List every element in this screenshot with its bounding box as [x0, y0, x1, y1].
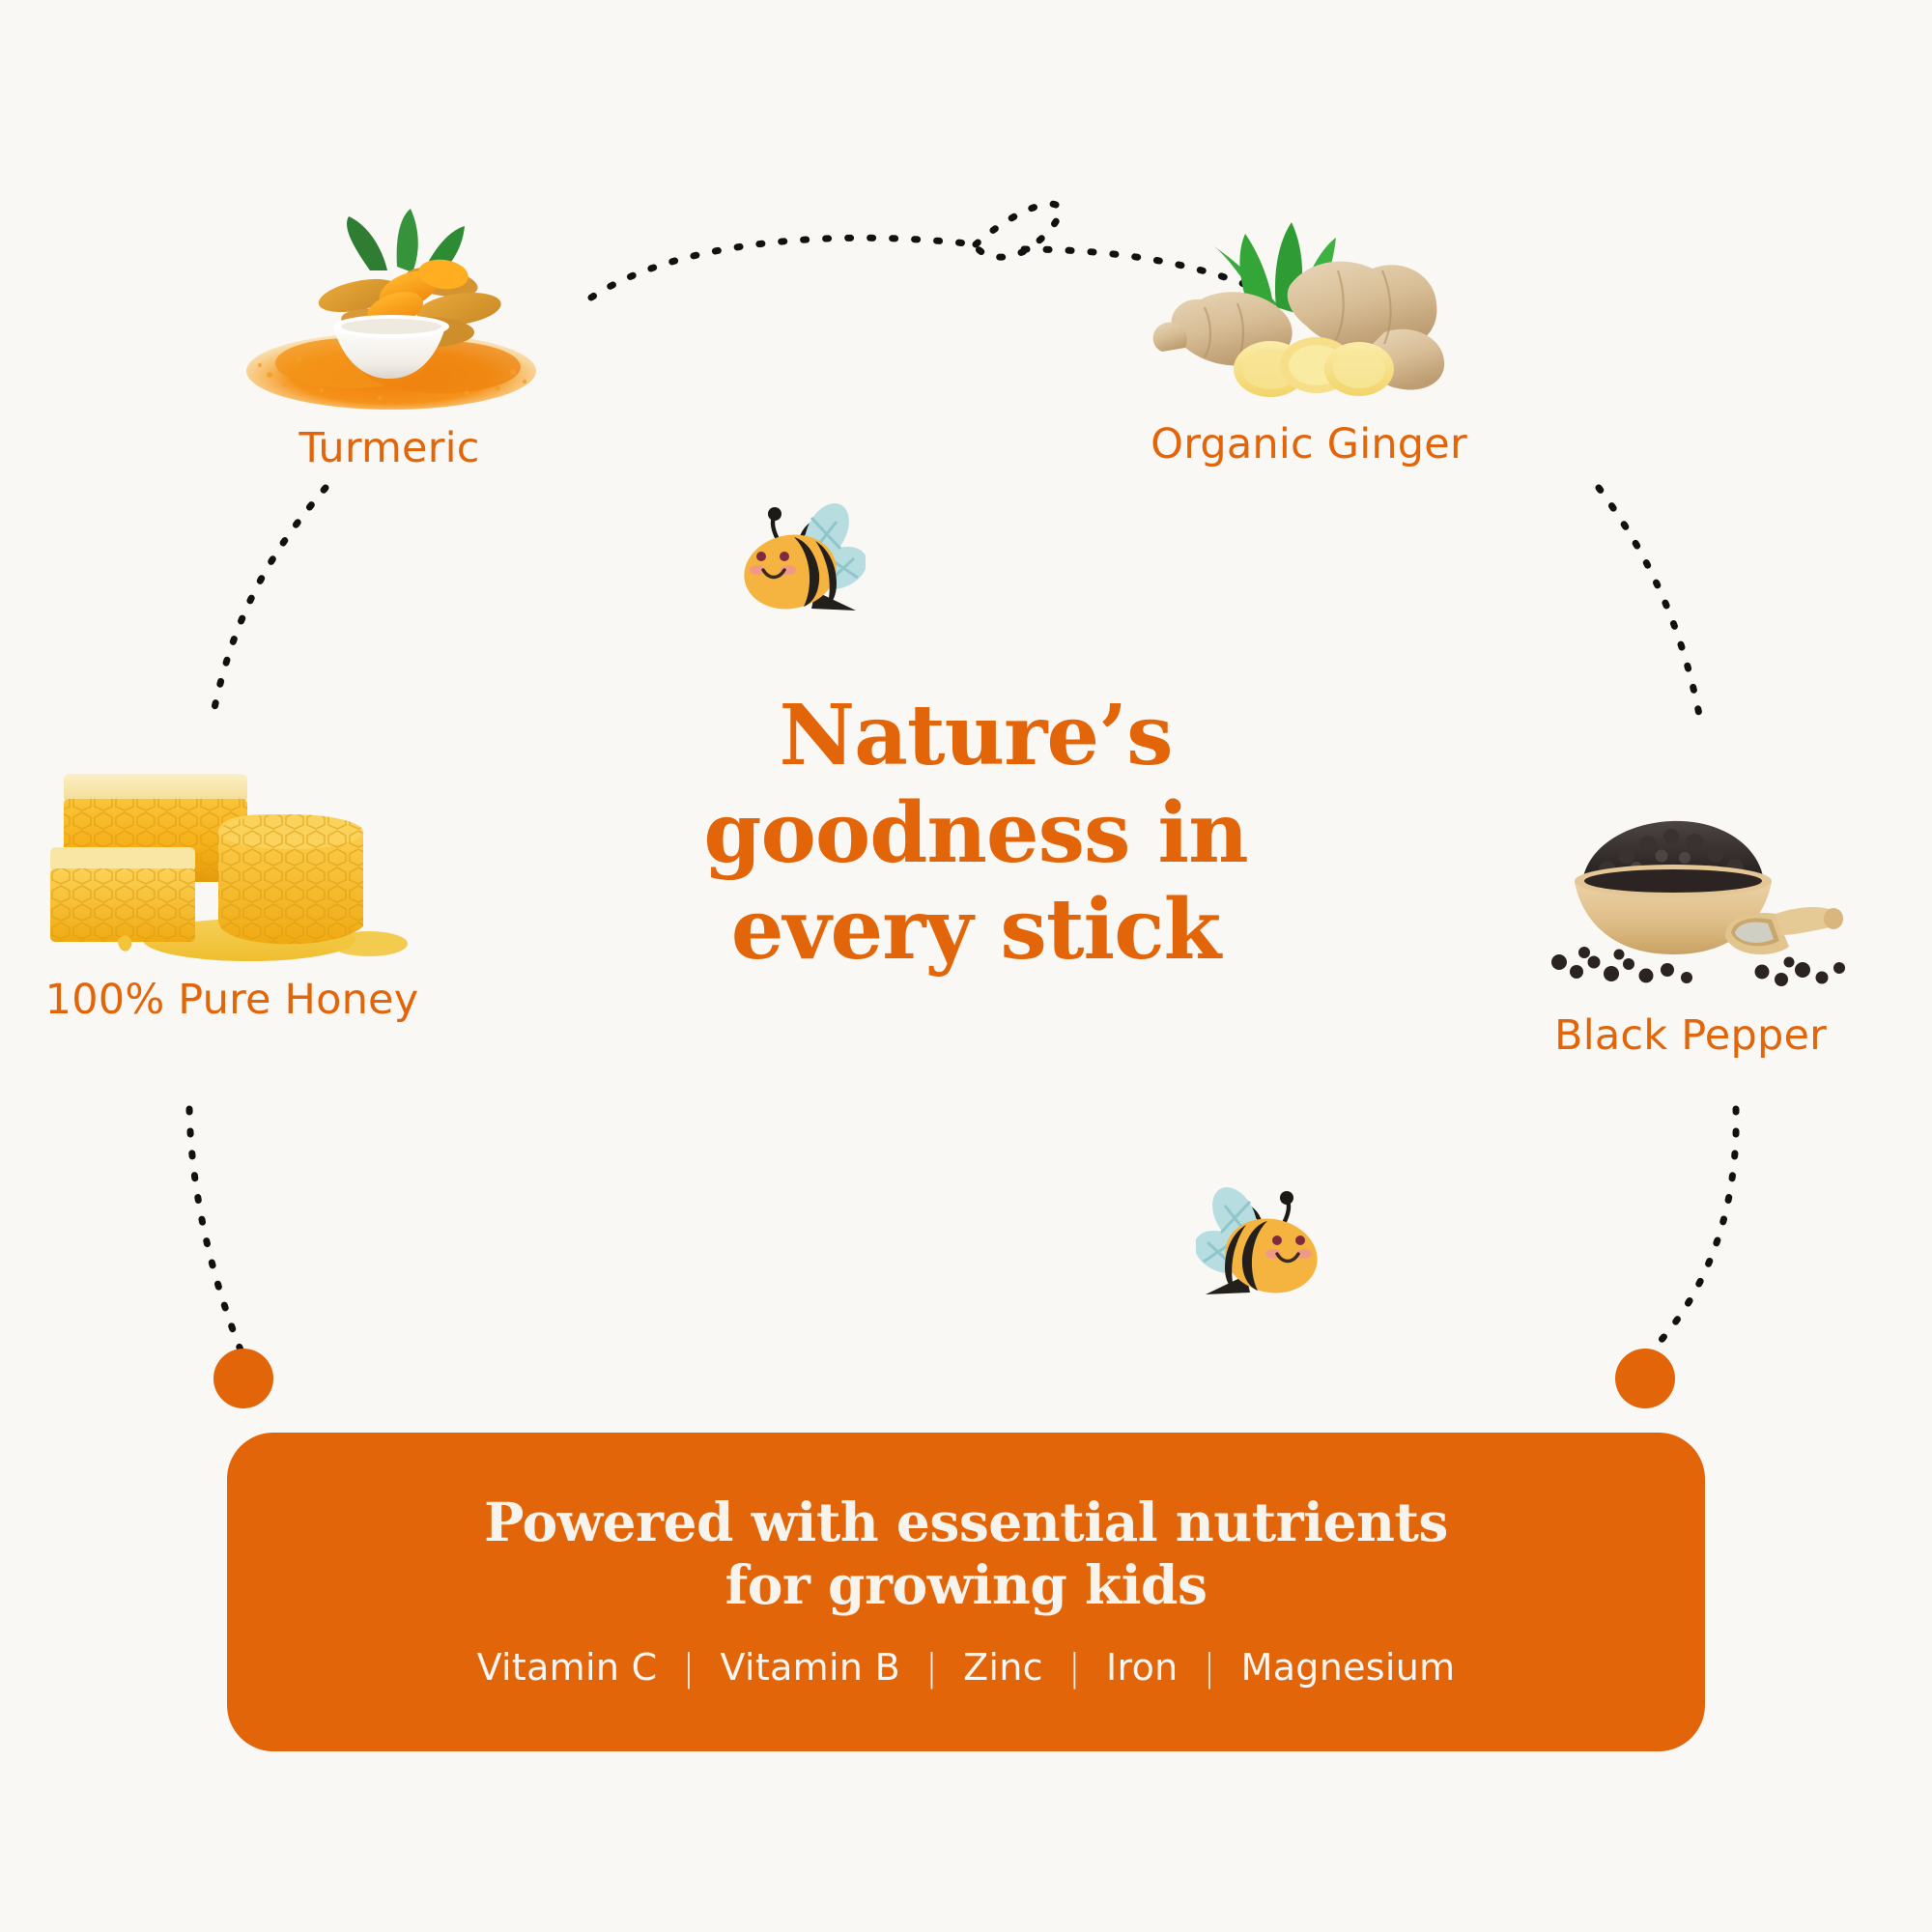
turmeric-bowl-image [235, 182, 544, 418]
banner-title-line-2: for growing kids [484, 1554, 1448, 1617]
nutrients-banner: Powered with essential nutrients for gro… [227, 1433, 1705, 1751]
nutrient-separator-3: | [1043, 1646, 1106, 1689]
ingredient-label-ginger: Organic Ginger [1151, 420, 1467, 469]
ingredient-honey: 100% Pure Honey [29, 720, 435, 1024]
path-end-dot-left [213, 1349, 273, 1408]
bee-icon-top [723, 502, 866, 631]
ginger-root-image [1145, 162, 1473, 409]
bee-icon-bottom [1196, 1186, 1339, 1315]
ingredient-pepper: Black Pepper [1526, 773, 1855, 1060]
black-pepper-bowl-image [1526, 773, 1855, 1000]
ingredient-label-pepper: Black Pepper [1554, 1011, 1827, 1060]
infographic-canvas: Turmeric [0, 0, 1932, 1932]
nutrient-separator-1: | [657, 1646, 720, 1689]
banner-title-line-1: Powered with essential nutrients [484, 1492, 1448, 1554]
nutrient-list: Vitamin C | Vitamin B | Zinc | Iron | Ma… [477, 1646, 1456, 1689]
nutrient-item-magnesium: Magnesium [1241, 1646, 1456, 1689]
page-headline: Nature’s goodness in every stick [667, 688, 1285, 980]
headline-line-3: every stick [667, 882, 1285, 980]
nutrient-item-vitamin-c: Vitamin C [477, 1646, 658, 1689]
nutrient-item-zinc: Zinc [963, 1646, 1043, 1689]
headline-line-1: Nature’s [667, 688, 1285, 785]
nutrient-separator-2: | [900, 1646, 963, 1689]
ingredient-ginger: Organic Ginger [1145, 162, 1473, 469]
banner-title: Powered with essential nutrients for gro… [484, 1492, 1448, 1617]
honeycomb-image [29, 720, 435, 966]
ingredient-label-turmeric: Turmeric [298, 424, 479, 472]
headline-line-2: goodness in [667, 785, 1285, 883]
path-end-dot-right [1615, 1349, 1675, 1408]
ingredient-label-honey: 100% Pure Honey [45, 976, 419, 1024]
nutrient-item-vitamin-b: Vitamin B [721, 1646, 900, 1689]
ingredient-turmeric: Turmeric [235, 182, 544, 472]
nutrient-separator-4: | [1179, 1646, 1241, 1689]
nutrient-item-iron: Iron [1106, 1646, 1179, 1689]
